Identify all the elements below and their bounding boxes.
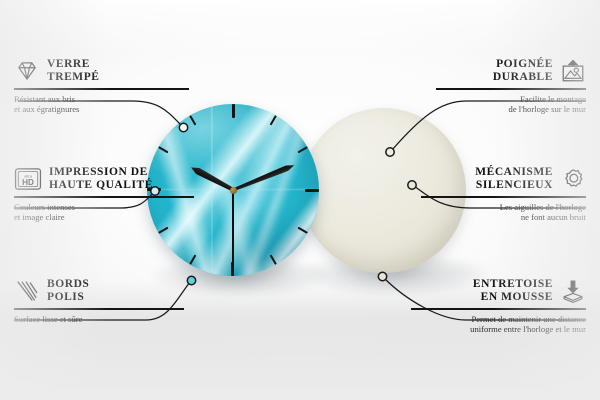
picture-hanger-icon <box>560 58 586 84</box>
callout-rule <box>14 308 184 310</box>
callout-rule <box>411 308 586 310</box>
callout-title: IMPRESSION DE HAUTE QUALITÉ <box>49 166 153 192</box>
callout-header: BORDS POLIS <box>14 278 184 304</box>
ultra-hd-icon-main: HD <box>22 178 34 187</box>
callout-description: Surface lisse et sûre <box>14 314 184 325</box>
callout-title: BORDS POLIS <box>47 278 89 304</box>
callout-description: Couleurs intenses et image claire <box>14 202 194 223</box>
hand-center-cap <box>230 187 237 194</box>
hour-tick-3 <box>233 189 319 191</box>
polished-edges-icon <box>14 278 40 304</box>
callout-header: ENTRETOISE EN MOUSSE <box>411 278 586 304</box>
callout-rule <box>14 196 194 198</box>
callout-header: POIGNÉE DURABLE <box>436 58 586 84</box>
ultra-hd-icon: ultra HD <box>14 166 42 192</box>
callout-description: Résistant aux bris et aux égratignures <box>14 94 189 115</box>
callout-rule <box>14 88 189 90</box>
foam-spacer-icon <box>560 278 586 304</box>
callout-entretoise-mousse: ENTRETOISE EN MOUSSE Permet de maintenir… <box>411 278 586 335</box>
callout-header: VERRE TREMPÉ <box>14 58 189 84</box>
hour-tick-12 <box>232 104 234 190</box>
callout-title: POIGNÉE DURABLE <box>493 58 553 84</box>
callout-verre-trempe: VERRE TREMPÉ Résistant aux bris et aux é… <box>14 58 189 115</box>
callout-title: MÉCANISME SILENCIEUX <box>475 166 553 192</box>
callout-description: Les aiguilles de l'horloge ne font aucun… <box>421 202 586 223</box>
callout-rule <box>421 196 586 198</box>
callout-description: Permet de maintenir une distance uniform… <box>411 314 586 335</box>
callout-description: Facilite le montage de l'horloge sur le … <box>436 94 586 115</box>
infographic-canvas: VERRE TREMPÉ Résistant aux bris et aux é… <box>0 0 600 400</box>
callout-impression-hd: ultra HD IMPRESSION DE HAUTE QUALITÉ Cou… <box>14 166 194 223</box>
callout-poignee-durable: POIGNÉE DURABLE Facilite le montage de l… <box>436 58 586 115</box>
callout-title: VERRE TREMPÉ <box>47 58 100 84</box>
callout-bords-polis: BORDS POLIS Surface lisse et sûre <box>14 278 184 324</box>
callout-mecanisme-silencieux: MÉCANISME SILENCIEUX Les aiguilles de l'… <box>421 166 586 223</box>
callout-rule <box>436 88 586 90</box>
callout-header: ultra HD IMPRESSION DE HAUTE QUALITÉ <box>14 166 194 192</box>
diamond-icon <box>14 58 40 84</box>
callout-header: MÉCANISME SILENCIEUX <box>421 166 586 192</box>
second-hand <box>232 190 234 266</box>
callout-title: ENTRETOISE EN MOUSSE <box>473 278 553 304</box>
gear-icon <box>560 166 586 192</box>
